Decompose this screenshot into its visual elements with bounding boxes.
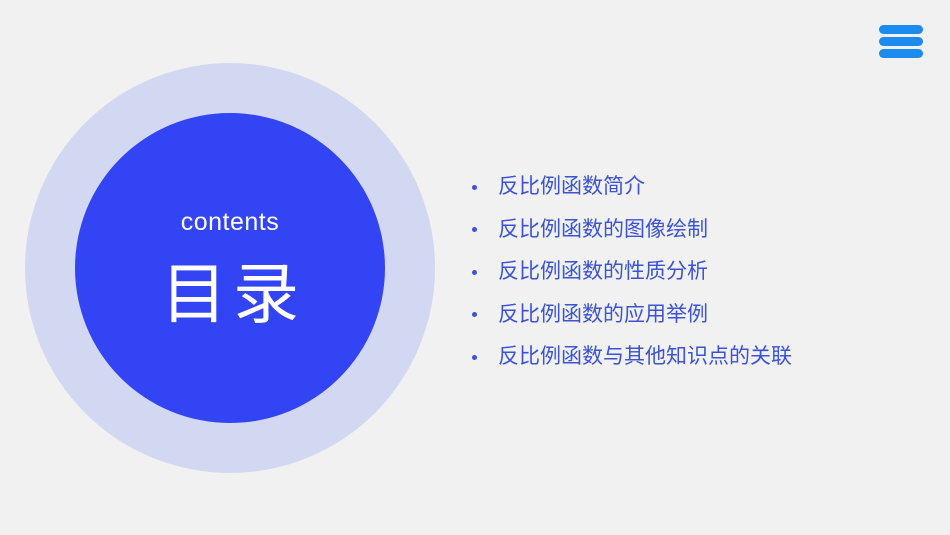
bullet-dot-icon — [472, 312, 477, 317]
list-item[interactable]: 反比例函数的图像绘制 — [468, 209, 918, 252]
agenda-list: 反比例函数简介 反比例函数的图像绘制 反比例函数的性质分析 反比例函数的应用举例… — [468, 166, 918, 379]
bullet-dot-icon — [472, 270, 477, 275]
hamburger-menu-icon[interactable] — [879, 25, 923, 58]
slide-canvas: contents 目录 反比例函数简介 反比例函数的图像绘制 反比例函数的性质分… — [0, 0, 950, 535]
list-item-label: 反比例函数的性质分析 — [498, 260, 708, 283]
circle-text-group: contents 目录 — [75, 113, 385, 423]
list-item[interactable]: 反比例函数与其他知识点的关联 — [468, 336, 918, 379]
list-item-label: 反比例函数与其他知识点的关联 — [498, 345, 792, 368]
hamburger-bar-middle — [879, 37, 923, 46]
hamburger-bar-bottom — [879, 49, 923, 58]
page-title: 目录 — [155, 261, 305, 327]
list-item[interactable]: 反比例函数的性质分析 — [468, 251, 918, 294]
list-item-label: 反比例函数的图像绘制 — [498, 218, 708, 241]
list-item[interactable]: 反比例函数简介 — [468, 166, 918, 209]
list-item[interactable]: 反比例函数的应用举例 — [468, 294, 918, 337]
bullet-dot-icon — [472, 227, 477, 232]
bullet-dot-icon — [472, 355, 477, 360]
list-item-label: 反比例函数的应用举例 — [498, 303, 708, 326]
list-item-label: 反比例函数简介 — [498, 175, 645, 198]
bullet-dot-icon — [472, 185, 477, 190]
contents-eyebrow-label: contents — [181, 210, 280, 235]
hamburger-bar-top — [879, 25, 923, 34]
